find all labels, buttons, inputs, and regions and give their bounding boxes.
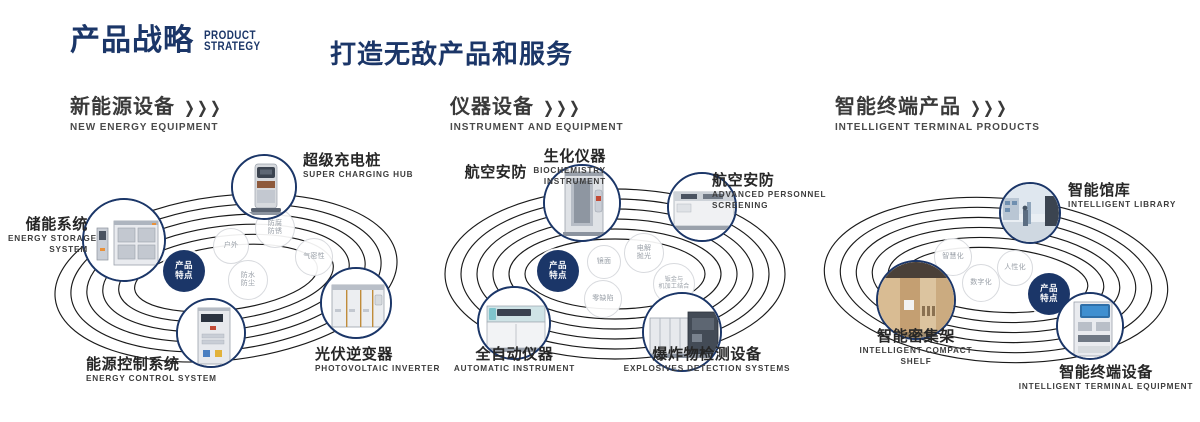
cluster-new-energy: 产品 特点 户外 防腐 防锈 防水 防尘 气密性 (30, 150, 430, 405)
node-super-charging-hub[interactable] (231, 154, 297, 220)
smart-library-icon (1001, 184, 1059, 242)
node-label-en: INTELLIGENT LIBRARY (1068, 200, 1176, 210)
self-service-kiosk-icon (1058, 294, 1122, 358)
node-label-en: INTELLIGENT COMPACT SHELF (836, 346, 996, 367)
page-subtitle: 打造无敌产品和服务 (330, 34, 573, 71)
cluster-instrument: 产品 特点 镜面 电解 抛光 零缺陷 钣金与 机加工结合 (415, 150, 815, 405)
core-bubble-product-features: 产品 特点 (163, 250, 205, 292)
feature-bubble-humanization: 人性化 (997, 250, 1033, 286)
core-bubble-line2: 特点 (1040, 294, 1058, 304)
section-title-instrument-cn: 仪器设备 (450, 96, 534, 118)
chevron-right-icon: ❯❯❯ (184, 101, 222, 114)
node-label-automatic-instrument: 全自动仪器 AUTOMATIC INSTRUMENT (437, 346, 592, 375)
page-header: 产品战略 PRODUCT STRATEGY (70, 26, 270, 56)
feature-bubble-label: 户外 (224, 242, 238, 250)
chevron-right-icon: ❯❯❯ (970, 101, 1008, 114)
core-bubble-line2: 特点 (549, 271, 567, 281)
feature-bubble-outdoor: 户外 (213, 228, 249, 264)
cluster-intelligent-terminal: 智慧化 数字化 人性化 产品 特点 (800, 150, 1200, 405)
section-title-intelligent-terminal-en: INTELLIGENT TERMINAL PRODUCTS (835, 122, 1040, 133)
node-intelligent-library[interactable] (999, 182, 1061, 244)
feature-bubble-label: 数字化 (970, 279, 992, 287)
section-title-new-energy-cn: 新能源设备 (70, 96, 175, 118)
infographic-page: 产品战略 PRODUCT STRATEGY 打造无敌产品和服务 新能源设备 ❯❯… (0, 0, 1200, 422)
page-title-en-line2: STRATEGY (204, 42, 261, 54)
page-title-en-line1: PRODUCT (204, 31, 261, 43)
node-label-energy-control-system: 能源控制系统 ENERGY CONTROL SYSTEM (86, 356, 217, 385)
node-label-en: EXPLOSIVES DETECTION SYSTEMS (622, 364, 792, 374)
section-title-intelligent-terminal-cn: 智能终端产品 (835, 96, 961, 118)
node-label-intelligent-terminal-equipment: 智能终端设备 INTELLIGENT TERMINAL EQUIPMENT (1016, 364, 1196, 393)
feature-bubble-label: 人性化 (1004, 264, 1026, 272)
charging-pile-icon (233, 156, 295, 218)
chevron-right-icon: ❯❯❯ (543, 101, 581, 114)
feature-bubble-label: 钣金与 (658, 277, 689, 284)
node-photovoltaic-inverter[interactable] (320, 267, 392, 339)
core-bubble-line2: 特点 (175, 271, 193, 281)
feature-bubble-label: 智慧化 (942, 253, 964, 261)
node-label-super-charging-hub: 超级充电桩 SUPER CHARGING HUB (303, 152, 413, 181)
node-label-en: SUPER CHARGING HUB (303, 170, 413, 180)
feature-bubble-label: 防锈 (268, 228, 282, 236)
feature-bubble-label: 防水 (241, 272, 255, 280)
feature-bubble-label: 零缺陷 (592, 295, 614, 303)
feature-bubble-label: 抛光 (637, 253, 651, 261)
section-title-intelligent-terminal: 智能终端产品 ❯❯❯ INTELLIGENT TERMINAL PRODUCTS (835, 96, 1040, 133)
section-title-new-energy: 新能源设备 ❯❯❯ NEW ENERGY EQUIPMENT (70, 96, 222, 133)
node-label-biochemistry-instrument: 生化仪器 BIOCHEMISTRY INSTRUMENT (451, 148, 606, 187)
page-title: 产品战略 (70, 26, 194, 56)
section-title-instrument: 仪器设备 ❯❯❯ INSTRUMENT AND EQUIPMENT (450, 96, 623, 133)
section-title-new-energy-en: NEW ENERGY EQUIPMENT (70, 122, 222, 133)
feature-bubble-label: 电解 (637, 245, 651, 253)
node-label-en: ENERGY CONTROL SYSTEM (86, 374, 217, 384)
section-title-instrument-en: INSTRUMENT AND EQUIPMENT (450, 122, 623, 133)
node-label-explosives-detection-systems: 爆炸物检测设备 EXPLOSIVES DETECTION SYSTEMS (622, 346, 792, 375)
feature-bubble-label: 镜面 (597, 258, 611, 266)
feature-bubble-waterproof: 防水 防尘 (228, 260, 268, 300)
compact-shelf-icon (878, 262, 954, 338)
node-intelligent-terminal-equipment[interactable] (1056, 292, 1124, 360)
feature-bubble-digitalization: 数字化 (962, 264, 1000, 302)
node-label-energy-storage-system: 储能系统 ENERGY STORAGE SYSTEM (8, 216, 88, 255)
node-label-en: INTELLIGENT TERMINAL EQUIPMENT (1016, 382, 1196, 392)
pv-inverter-icon (322, 269, 390, 337)
feature-bubble-electrolytic-polishing: 电解 抛光 (624, 233, 664, 273)
node-label-en: ENERGY STORAGE SYSTEM (8, 234, 88, 255)
feature-bubble-label: 防尘 (241, 280, 255, 288)
node-label-en: BIOCHEMISTRY INSTRUMENT (451, 166, 606, 187)
feature-bubble-label: 气密性 (303, 253, 325, 261)
page-title-en: PRODUCT STRATEGY (204, 31, 261, 54)
feature-bubble-mirror-finish: 镜面 (587, 245, 621, 279)
feature-bubble-zero-defect: 零缺陷 (584, 280, 622, 318)
feature-bubble-label: 防腐 (268, 220, 282, 228)
node-label-intelligent-compact-shelf: 智能密集架 INTELLIGENT COMPACT SHELF (836, 328, 996, 367)
feature-bubble-label: 机加工结合 (658, 284, 689, 291)
core-bubble-product-features: 产品 特点 (537, 250, 579, 292)
node-label-en: AUTOMATIC INSTRUMENT (437, 364, 592, 374)
node-label-intelligent-library: 智能馆库 INTELLIGENT LIBRARY (1068, 182, 1176, 211)
